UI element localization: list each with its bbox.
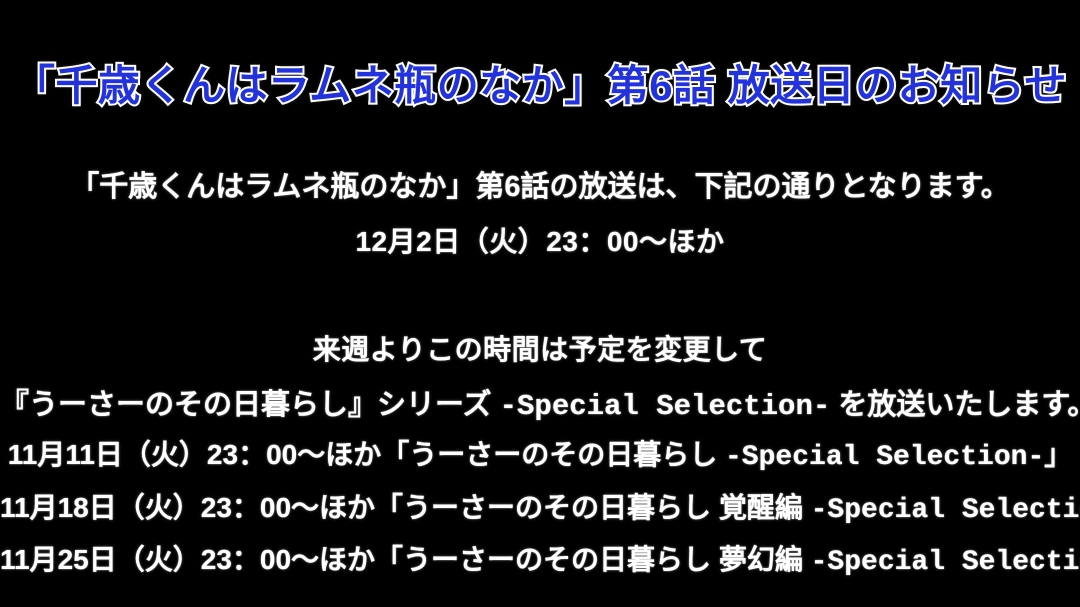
title-row: 「千歳くんはラムネ瓶のなか」第6話 放送日のお知らせ: [0, 52, 1080, 113]
series-subtitle: -Special Selection-: [500, 390, 831, 423]
schedule-subtitle: -Special Selection-: [811, 547, 1080, 578]
series-line: 『うーさーのその日暮らし』シリーズ -Special Selection- を放…: [0, 381, 1080, 423]
schedule-close-bracket: 」: [1044, 439, 1072, 470]
schedule-date: 11月25日（火）23：00〜ほか「うーさーのその日暮らし 夢幻編: [0, 544, 811, 575]
schedule-row: 11月25日（火）23：00〜ほか「うーさーのその日暮らし 夢幻編 -Speci…: [0, 538, 1080, 578]
schedule-subtitle: -Special Selection-: [725, 442, 1044, 473]
schedule-row: 11月18日（火）23：00〜ほか「うーさーのその日暮らし 覚醒編 -Speci…: [0, 486, 1080, 526]
airdate-line: 12月2日（火）23：00〜ほか: [0, 220, 1080, 260]
page-title: 「千歳くんはラムネ瓶のなか」第6話 放送日のお知らせ: [13, 52, 1067, 113]
notice-line: 来週よりこの時間は予定を変更して: [0, 328, 1080, 368]
schedule-date: 11月18日（火）23：00〜ほか「うーさーのその日暮らし 覚醒編: [0, 492, 811, 523]
series-suffix: を放送いたします。: [830, 389, 1080, 421]
series-prefix: 『うーさーのその日暮らし』シリーズ: [0, 389, 500, 421]
schedule-row: 11月11日（火）23：00〜ほか「うーさーのその日暮らし -Special S…: [0, 433, 1080, 473]
schedule-date: 11月11日（火）23：00〜ほか「うーさーのその日暮らし: [8, 439, 725, 470]
announcement-slide: 「千歳くんはラムネ瓶のなか」第6話 放送日のお知らせ 「千歳くんはラムネ瓶のなか…: [0, 0, 1080, 607]
schedule-subtitle: -Special Selection-: [811, 495, 1080, 526]
intro-line: 「千歳くんはラムネ瓶のなか」第6話の放送は、下記の通りとなります。: [0, 163, 1080, 205]
